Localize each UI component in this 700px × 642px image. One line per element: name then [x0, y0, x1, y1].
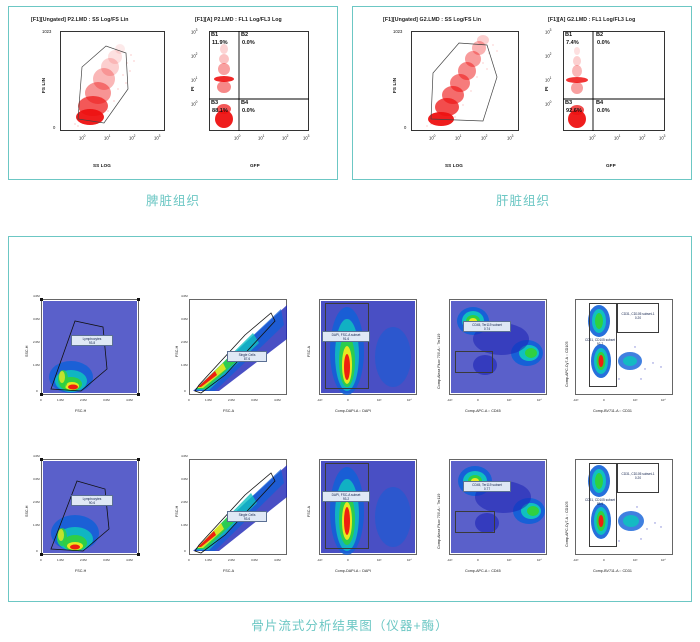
xtick: 0 — [347, 398, 349, 402]
xlabel-r2p5: Comp-BV711-A :: CD31 — [593, 569, 632, 573]
ytick-liver-1023: 1023 — [393, 29, 402, 34]
gate-tag-cd31-subset[interactable]: CD31, CD105 subset 92.7 — [577, 337, 623, 346]
gate-tag-cd31-subset-1[interactable]: CD31, CD105 subset-1 0.20 — [617, 471, 659, 480]
gate-tag-lymphocytes[interactable]: Lymphocytes 93.8 — [71, 335, 113, 346]
xtick: 0 — [477, 398, 479, 402]
plot-r2-fsc-ssc: Lymphocytes 90.6 — [41, 459, 139, 555]
ylabel-r1p4: Comp-Alexa Fluor 700-A :: Ter119 — [437, 334, 441, 389]
xtick: 2.0M — [80, 398, 87, 402]
quadrant-label-b3: B3 — [565, 100, 572, 106]
scatter-events — [411, 31, 519, 131]
xtick: -10³ — [317, 558, 322, 562]
xtick: 10³ — [507, 558, 511, 562]
gate-rect-cd45-ter119[interactable] — [455, 511, 495, 533]
plot-r1-fsc-ssc: Lymphocytes 93.8 — [41, 299, 139, 395]
ytick: 100 — [545, 100, 551, 106]
ytick: 2.0M — [181, 500, 188, 504]
xtick: -10³ — [447, 558, 452, 562]
density-events — [189, 459, 287, 555]
gate-handle[interactable] — [137, 458, 140, 461]
xtick: 101 — [455, 134, 461, 140]
xtick: 0 — [40, 558, 42, 562]
xtick: 10⁴ — [661, 558, 666, 562]
gate-label: CD31, CD105 subset-1 — [618, 472, 658, 476]
gate-value: 93.6 — [229, 517, 265, 521]
xlabel-r2p2: FSC-A — [223, 569, 234, 573]
gate-tag-dapi-subset[interactable]: DAPI, FSC-A subset 93.2 — [322, 491, 370, 502]
quadrant-label-b2: B2 — [596, 32, 603, 38]
xtick: 102 — [129, 134, 135, 140]
xtick: 1.0M — [205, 558, 212, 562]
ylabel-r1p2: FSC-H — [175, 346, 179, 357]
ytick: 2.0M — [33, 500, 40, 504]
plot-title-spleen-scatter: [F1][Ungated] P2.LMD : SS Log/FS Lin — [31, 17, 129, 23]
gate-handle[interactable] — [40, 298, 43, 301]
ylabel-pi: PI — [544, 86, 549, 91]
xtick: 3.0M — [103, 398, 110, 402]
xtick: 4.0M — [126, 558, 133, 562]
xtick: 0 — [603, 558, 605, 562]
ytick: 0 — [36, 389, 38, 393]
xtick: 2.0M — [228, 398, 235, 402]
xtick: 100 — [589, 134, 595, 140]
ylabel-r2p3: FSC-A — [307, 506, 311, 517]
quadrant-label-b3: B3 — [211, 100, 218, 106]
ytick: 102 — [545, 52, 551, 58]
xlabel-r2p1: FSC-H — [75, 569, 86, 573]
xtick: 1.0M — [57, 558, 64, 562]
ytick-spleen-0: 0 — [53, 125, 55, 130]
density-events — [41, 459, 139, 555]
ytick: 1.0M — [33, 363, 40, 367]
caption-spleen: 脾脏组织 — [108, 190, 238, 209]
quadrant-value-b2: 0.0% — [242, 40, 255, 46]
xlabel-r1p1: FSC-H — [75, 409, 86, 413]
plot-spleen-sslog-fslin — [60, 31, 165, 131]
gate-handle[interactable] — [40, 393, 43, 396]
xtick: 3.0M — [251, 398, 258, 402]
ylabel-fs-lin: FS LIN — [41, 78, 46, 93]
plot-r1-singlecells: Single Cells 87.6 — [189, 299, 287, 395]
ytick: 102 — [191, 52, 197, 58]
ytick-spleen-1023: 1023 — [42, 29, 51, 34]
xtick: 10³ — [633, 398, 637, 402]
ytick: 0 — [184, 549, 186, 553]
gate-value: 0.20 — [618, 476, 658, 480]
xtick: -10³ — [573, 558, 578, 562]
plot-title-liver-scatter: [F1][Ungated] G2.LMD : SS Log/FS Lin — [383, 17, 481, 23]
caption-liver: 肝脏组织 — [458, 190, 588, 209]
plot-title-liver-quadrant: [F1][A] G2.LMD : FL1 Log/FL3 Log — [548, 17, 635, 23]
panel-liver-tissue: [F1][Ungated] G2.LMD : SS Log/FS Lin — [352, 6, 692, 180]
xtick: 1.0M — [205, 398, 212, 402]
gate-tag-lymphocytes[interactable]: Lymphocytes 90.6 — [71, 495, 113, 506]
xtick: 3.0M — [251, 558, 258, 562]
ytick: 3.0M — [33, 317, 40, 321]
quadrant-value-b4: 0.0% — [242, 108, 255, 114]
ytick: 101 — [545, 76, 551, 82]
xtick: 0 — [347, 558, 349, 562]
plot-r2-cd45-ter119: CD45, Ter119 subset 0.77 — [449, 459, 547, 555]
xlabel-ss-log: SS LOG — [93, 163, 111, 168]
panel-bone-flow-results: Lymphocytes 93.8 SSC-H FSC-H 4.0M 3.0M 2… — [8, 236, 692, 602]
gate-rect-cd45-ter119[interactable] — [455, 351, 493, 373]
gate-value: 91.6 — [324, 337, 368, 341]
quadrant-label-b4: B4 — [241, 100, 248, 106]
gate-rect-dapi[interactable] — [325, 303, 369, 389]
xtick: 10³ — [633, 558, 637, 562]
xtick: 10⁴ — [407, 398, 412, 402]
ytick: 103 — [545, 28, 551, 34]
ytick: 2.0M — [33, 340, 40, 344]
xtick: 10⁴ — [661, 398, 666, 402]
quadrant-label-b2: B2 — [241, 32, 248, 38]
xtick: 10⁴ — [407, 558, 412, 562]
ylabel-pi: PI — [190, 86, 195, 91]
gate-handle[interactable] — [137, 393, 140, 396]
gate-value: 88.9 — [578, 502, 622, 506]
xtick: 101 — [614, 134, 620, 140]
ytick: 0 — [36, 549, 38, 553]
xtick: 0 — [188, 558, 190, 562]
xtick: 4.0M — [274, 398, 281, 402]
plot-r1-cd45-ter119: CD45, Ter119 subset 0.74 — [449, 299, 547, 395]
quadrant-value-b2: 0.0% — [597, 40, 610, 46]
gate-tag-single-cells[interactable]: Single Cells 87.6 — [227, 351, 267, 362]
xtick: -10³ — [447, 398, 452, 402]
gate-handle[interactable] — [40, 553, 43, 556]
quadrant-value-b3: 88.1% — [212, 108, 228, 114]
xlabel-ss-log: SS LOG — [445, 163, 463, 168]
quadrant-value-b4: 0.0% — [597, 108, 610, 114]
ytick: 1.0M — [181, 523, 188, 527]
xtick: 2.0M — [228, 558, 235, 562]
gate-tag-cd45-ter119-subset[interactable]: CD45, Ter119 subset 0.77 — [463, 481, 511, 492]
xtick: 1.0M — [57, 398, 64, 402]
xlabel-gfp: GFP — [606, 163, 616, 168]
ytick-liver-0: 0 — [404, 125, 406, 130]
gate-label: CD31, CD105 subset-1 — [618, 312, 658, 316]
xtick: -10³ — [573, 398, 578, 402]
xtick: -10³ — [317, 398, 322, 402]
gate-handle[interactable] — [40, 458, 43, 461]
scatter-events — [60, 31, 165, 131]
xtick: 101 — [258, 134, 264, 140]
ytick: 1.0M — [33, 523, 40, 527]
gate-tag-single-cells[interactable]: Single Cells 93.6 — [227, 511, 267, 522]
ylabel-r1p3: FSC-A — [307, 346, 311, 357]
ytick: 103 — [191, 28, 197, 34]
ytick: 1.0M — [181, 363, 188, 367]
ylabel-r1p5: Comp-APC-Cy7-A :: CD105 — [565, 342, 569, 388]
plot-spleen-gfp-pi — [209, 31, 309, 131]
ytick: 101 — [191, 76, 197, 82]
xtick: 10³ — [507, 398, 511, 402]
gate-tag-cd31-subset-1[interactable]: CD31, CD105 subset-1 0.20 — [617, 311, 659, 320]
xlabel-r2p4: Comp-APC-A :: CD45 — [465, 569, 501, 573]
xtick: 103 — [507, 134, 513, 140]
gate-value: 93.2 — [324, 497, 368, 501]
gate-rect-dapi[interactable] — [325, 463, 369, 549]
xtick: 10⁴ — [537, 398, 542, 402]
xtick: 100 — [79, 134, 85, 140]
ytick: 4.0M — [181, 454, 188, 458]
plot-title-spleen-quadrant: [F1][A] P2.LMD : FL1 Log/FL3 Log — [195, 17, 282, 23]
xtick: 102 — [282, 134, 288, 140]
gate-value: 0.20 — [618, 316, 658, 320]
plot-r1-cd31-cd105: CD31, CD105 subset-1 0.20 CD31, CD105 su… — [575, 299, 673, 395]
xlabel-r1p2: FSC-A — [223, 409, 234, 413]
ylabel-r2p4: Comp-Alexa Fluor 700-A :: Ter119 — [437, 494, 441, 549]
gate-value: 92.7 — [578, 342, 622, 346]
ytick: 4.0M — [33, 294, 40, 298]
quadrant-value-b3: 92.6% — [566, 108, 582, 114]
xtick: 102 — [639, 134, 645, 140]
ytick: 0 — [184, 389, 186, 393]
gate-value: 0.74 — [465, 327, 509, 331]
gate-handle[interactable] — [137, 553, 140, 556]
plot-liver-sslog-fslin — [411, 31, 519, 131]
ylabel-r1p1: SSC-H — [25, 346, 29, 357]
caption-bone-flow: 骨片流式分析结果图（仪器+酶） — [235, 615, 465, 634]
gate-tag-dapi-subset[interactable]: DAPI, FSC-A subset 91.6 — [322, 331, 370, 342]
density-events — [449, 299, 547, 395]
density-events — [41, 299, 139, 395]
xtick: 3.0M — [103, 558, 110, 562]
xlabel-r1p3: Comp-DAPI-A :: DAPI — [335, 409, 371, 413]
xtick: 0 — [477, 558, 479, 562]
xtick: 4.0M — [274, 558, 281, 562]
xtick: 0 — [40, 398, 42, 402]
quadrant-value-b1: 11.9% — [212, 40, 228, 46]
ytick: 4.0M — [33, 454, 40, 458]
xlabel-gfp: GFP — [250, 163, 260, 168]
quadrant-label-b1: B1 — [565, 32, 572, 38]
xtick: 100 — [429, 134, 435, 140]
xtick: 103 — [154, 134, 160, 140]
ytick: 2.0M — [181, 340, 188, 344]
xlabel-r1p4: Comp-APC-A :: CD45 — [465, 409, 501, 413]
xtick: 10³ — [377, 398, 381, 402]
scatter-events — [563, 31, 665, 131]
xtick: 4.0M — [126, 398, 133, 402]
gate-handle[interactable] — [137, 298, 140, 301]
ytick: 3.0M — [33, 477, 40, 481]
xtick: 0 — [603, 398, 605, 402]
ylabel-r2p1: SSC-H — [25, 506, 29, 517]
xtick: 10⁴ — [537, 558, 542, 562]
quadrant-label-b1: B1 — [211, 32, 218, 38]
ytick: 4.0M — [181, 294, 188, 298]
ytick: 3.0M — [181, 477, 188, 481]
plot-liver-gfp-pi — [563, 31, 665, 131]
scatter-events — [209, 31, 309, 131]
xlabel-r1p5: Comp-BV711-A :: CD31 — [593, 409, 632, 413]
gate-value: 0.77 — [465, 487, 509, 491]
density-events — [189, 299, 287, 395]
xtick: 0 — [188, 398, 190, 402]
xtick: 101 — [104, 134, 110, 140]
panel-spleen-tissue: [F1][Ungated] P2.LMD : SS Log/FS Lin — [8, 6, 338, 180]
xtick: 102 — [481, 134, 487, 140]
ytick: 3.0M — [181, 317, 188, 321]
ylabel-fs-lin: FS LIN — [392, 78, 397, 93]
xtick: 103 — [303, 134, 309, 140]
density-events — [449, 459, 547, 555]
gate-value: 87.6 — [229, 357, 265, 361]
xtick: 103 — [659, 134, 665, 140]
gate-tag-cd45-ter119-subset[interactable]: CD45, Ter119 subset 0.74 — [463, 321, 511, 332]
plot-r2-cd31-cd105: CD31, CD105 subset-1 0.20 CD31, CD105 su… — [575, 459, 673, 555]
ytick: 100 — [191, 100, 197, 106]
ylabel-r2p2: FSC-H — [175, 506, 179, 517]
xtick: 10³ — [377, 558, 381, 562]
plot-r1-dapi: DAPI, FSC-A subset 91.6 — [319, 299, 417, 395]
gate-value: 90.6 — [73, 501, 111, 505]
xtick: 2.0M — [80, 558, 87, 562]
plot-r2-singlecells: Single Cells 93.6 — [189, 459, 287, 555]
gate-value: 93.8 — [73, 341, 111, 345]
xlabel-r2p3: Comp-DAPI-A :: DAPI — [335, 569, 371, 573]
gate-tag-cd31-subset[interactable]: CD31, CD105 subset 88.9 — [577, 497, 623, 506]
quadrant-label-b4: B4 — [596, 100, 603, 106]
plot-r2-dapi: DAPI, FSC-A subset 93.2 — [319, 459, 417, 555]
ylabel-r2p5: Comp-APC-Cy7-A :: CD105 — [565, 502, 569, 548]
xtick: 100 — [234, 134, 240, 140]
quadrant-value-b1: 7.4% — [566, 40, 579, 46]
